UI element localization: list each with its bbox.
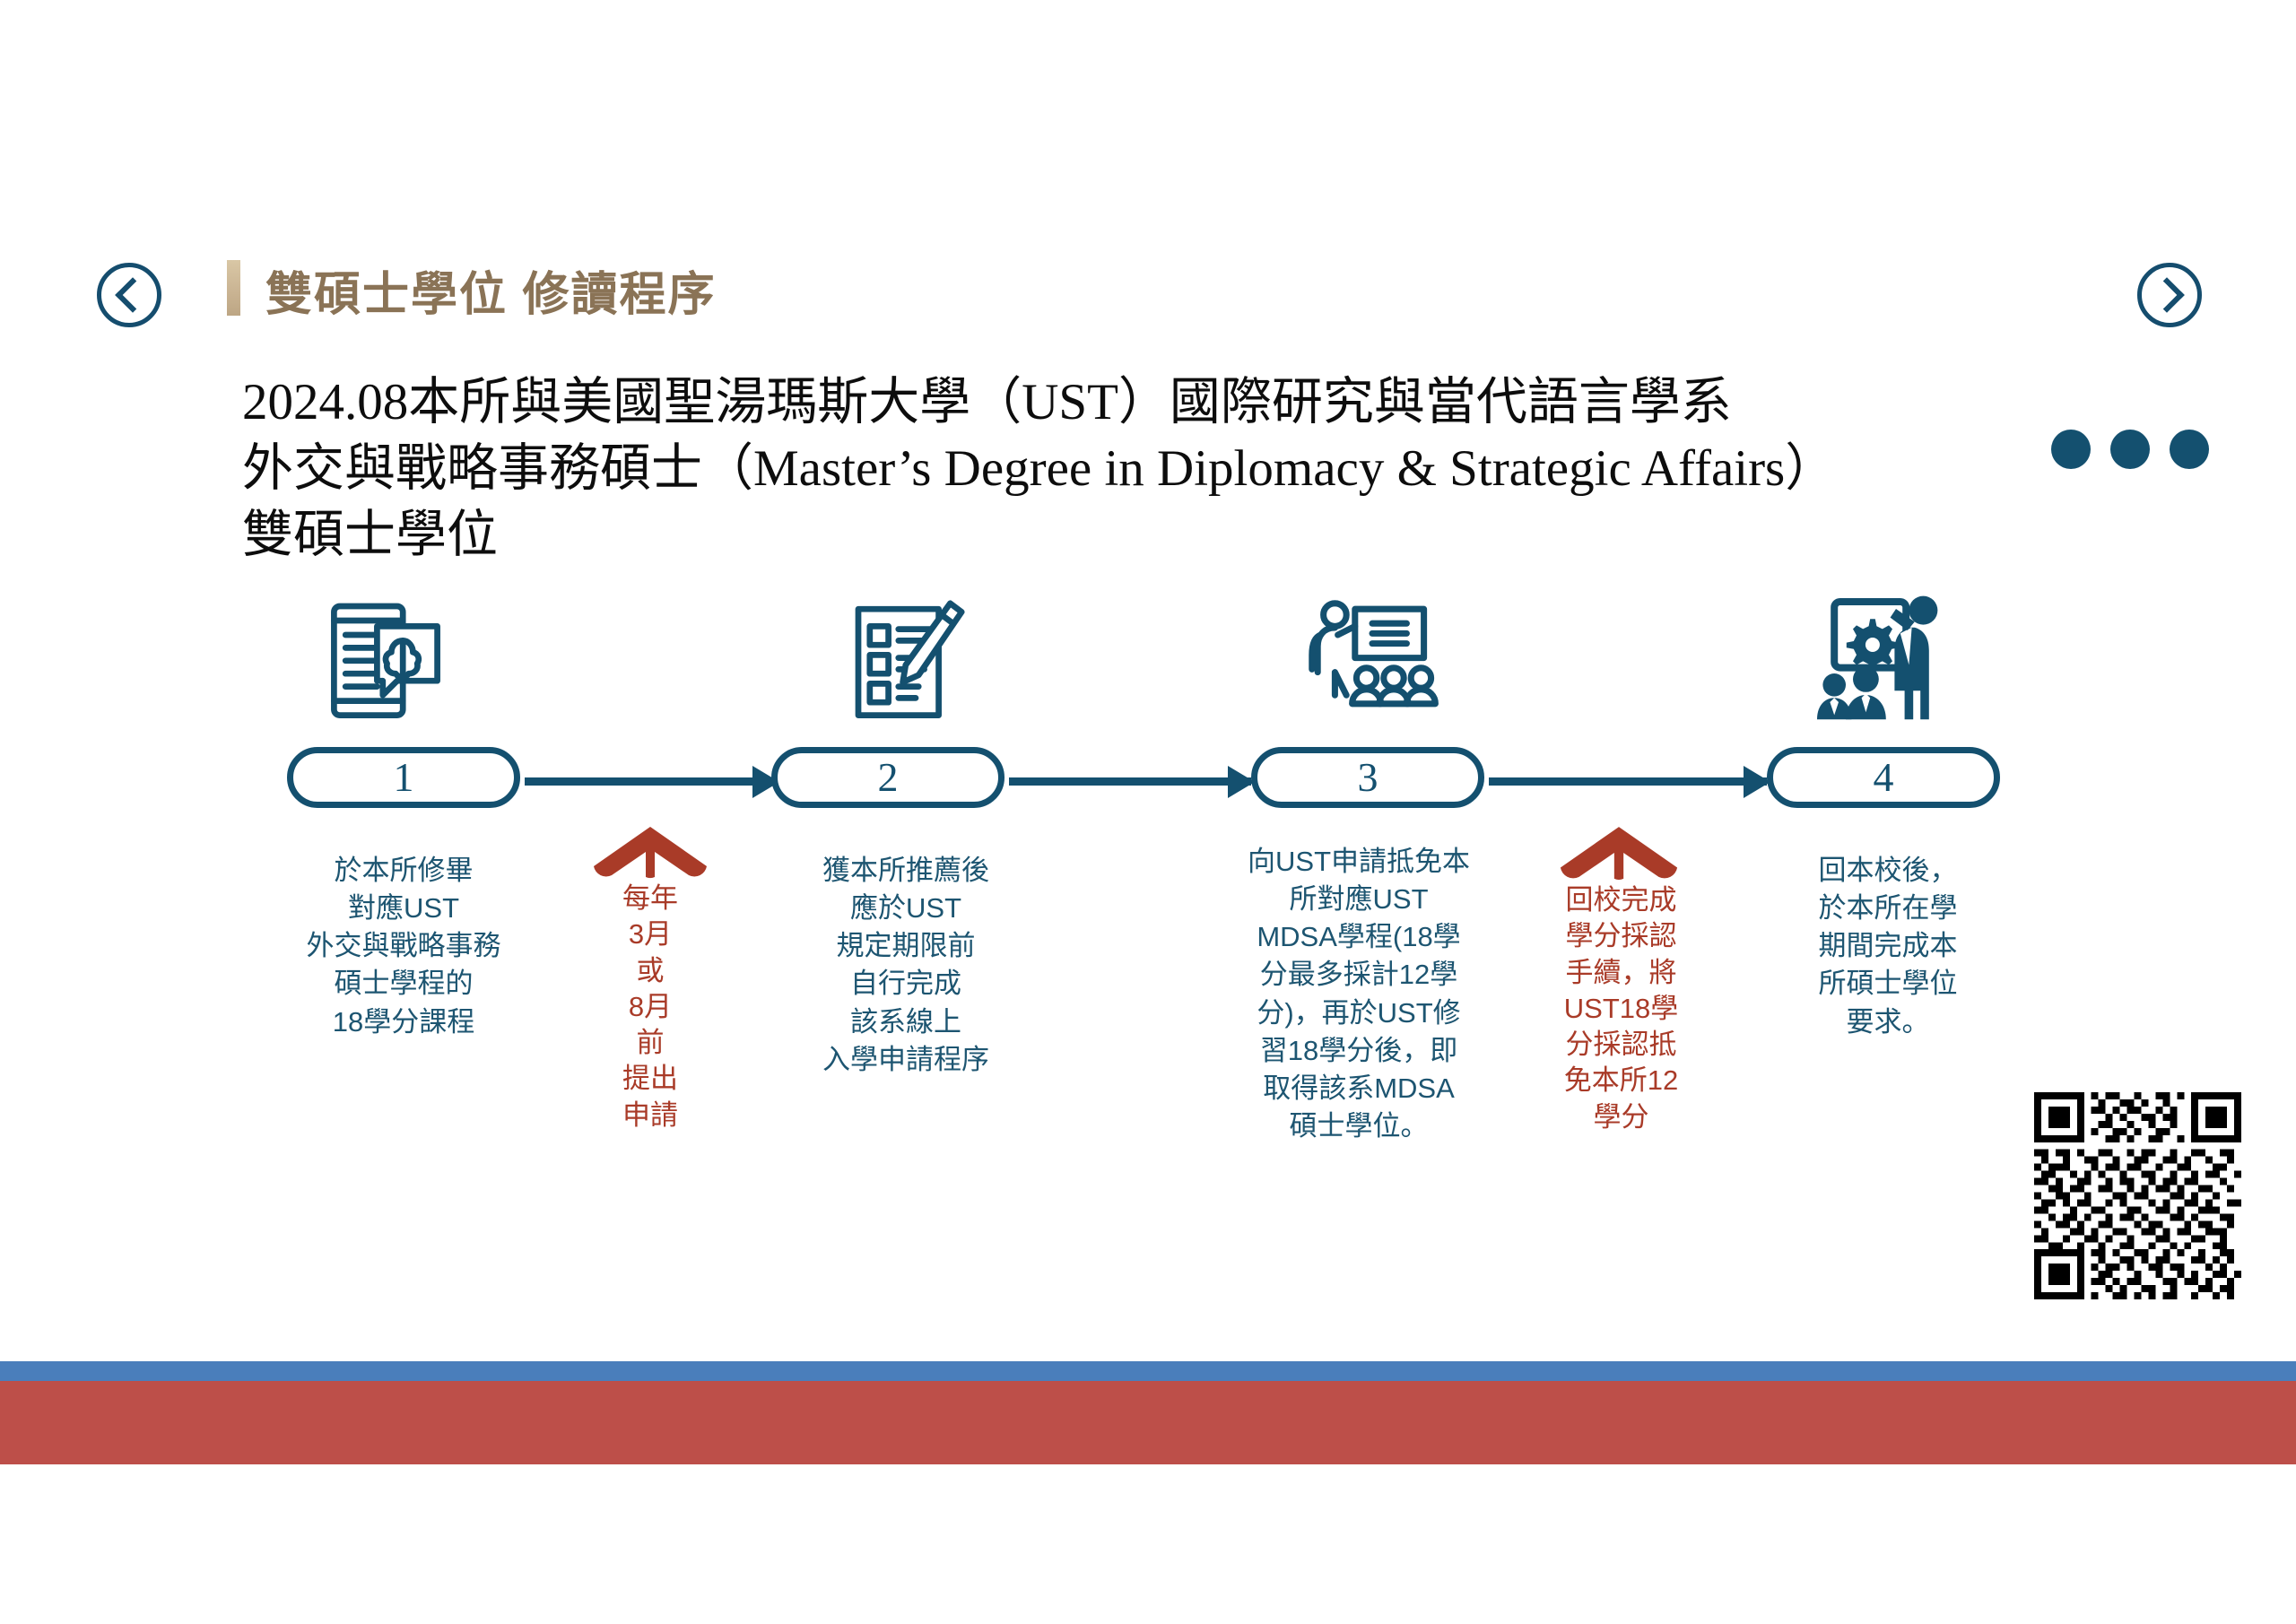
- checklist-pencil-icon: [821, 592, 982, 735]
- pagination-dots[interactable]: [2051, 430, 2209, 469]
- intro-line-2: 外交與戰略事務碩士（Master’s Degree in Diplomacy &…: [242, 436, 1973, 502]
- presenter-audience-icon: [1291, 592, 1453, 735]
- note1-line-6: 提出: [592, 1061, 709, 1097]
- step2-line-6: 入學申請程序: [744, 1041, 1067, 1079]
- step2-line-5: 該系線上: [744, 1003, 1067, 1041]
- step-number-2: 2: [878, 757, 899, 798]
- pagination-dot-3[interactable]: [2170, 430, 2209, 469]
- step3-line-5: 分)，再於UST修: [1184, 994, 1534, 1032]
- note2-line-5: 分採認抵: [1547, 1027, 1695, 1063]
- note2-line-1: 回校完成: [1547, 882, 1695, 918]
- step3-line-4: 分最多採計12學: [1184, 956, 1534, 994]
- connector-2-3: [1009, 777, 1251, 786]
- intro-paragraph: 2024.08本所與美國聖湯瑪斯大學（UST）國際研究與當代語言學系 外交與戰略…: [242, 369, 1973, 569]
- footer-blue-bar: [0, 1361, 2296, 1381]
- process-flow-diagram: 1 於本所修畢 對應UST 外交與戰略事務 碩士學程的 18學分課程 每年 3月…: [0, 574, 2296, 1309]
- step2-line-4: 自行完成: [744, 965, 1067, 1003]
- red-note-1: 每年 3月 或 8月 前 提出 申請: [592, 825, 709, 883]
- step1-line-3: 外交與戰略事務: [238, 927, 570, 965]
- note1-line-5: 前: [592, 1025, 709, 1061]
- step-description-1: 於本所修畢 對應UST 外交與戰略事務 碩士學程的 18學分課程: [238, 852, 570, 1041]
- connector-1-2: [525, 777, 776, 786]
- step-description-2: 獲本所推薦後 應於UST 規定期限前 自行完成 該系線上 入學申請程序: [744, 852, 1067, 1079]
- prev-slide-button[interactable]: [97, 263, 161, 327]
- note2-line-3: 手續，將: [1547, 955, 1695, 991]
- step4-line-4: 所碩士學位: [1740, 965, 2036, 1003]
- step3-line-2: 所對應UST: [1184, 881, 1534, 918]
- gear-presentation-icon: [1794, 587, 1955, 731]
- note1-line-3: 或: [592, 953, 709, 989]
- step4-line-2: 於本所在學: [1740, 890, 2036, 927]
- step-node-4[interactable]: 4: [1767, 747, 2000, 808]
- connector-3-4: [1489, 777, 1767, 786]
- step3-line-6: 習18學分後，即: [1184, 1032, 1534, 1070]
- step2-line-1: 獲本所推薦後: [744, 852, 1067, 890]
- step3-line-1: 向UST申請抵免本: [1184, 843, 1534, 881]
- red-up-arrow-icon: [592, 825, 709, 879]
- note1-line-2: 3月: [592, 916, 709, 952]
- chevron-left-icon: [115, 277, 151, 313]
- red-note-2: 回校完成 學分採認 手續，將 UST18學 分採認抵 免本所12 學分: [1547, 825, 1695, 885]
- note2-line-7: 學分: [1547, 1099, 1695, 1135]
- step4-line-3: 期間完成本: [1740, 927, 2036, 965]
- step-node-3[interactable]: 3: [1251, 747, 1484, 808]
- intro-line-1: 2024.08本所與美國聖湯瑪斯大學（UST）國際研究與當代語言學系: [242, 369, 1973, 436]
- step3-line-7: 取得該系MDSA: [1184, 1070, 1534, 1107]
- document-brain-icon: [305, 592, 466, 735]
- step3-line-3: MDSA學程(18學: [1184, 918, 1534, 956]
- step1-line-1: 於本所修畢: [238, 852, 570, 890]
- pagination-dot-2[interactable]: [2110, 430, 2150, 469]
- step1-line-2: 對應UST: [238, 890, 570, 927]
- intro-line-3: 雙碩士學位: [242, 502, 1973, 569]
- step2-line-3: 規定期限前: [744, 927, 1067, 965]
- title-accent-bar: [227, 260, 240, 316]
- pagination-dot-1[interactable]: [2051, 430, 2091, 469]
- step1-line-5: 18學分課程: [238, 1003, 570, 1041]
- step-description-4: 回本校後， 於本所在學 期間完成本 所碩士學位 要求。: [1740, 852, 2036, 1041]
- step4-line-5: 要求。: [1740, 1003, 2036, 1041]
- note2-line-4: UST18學: [1547, 991, 1695, 1027]
- note1-line-7: 申請: [592, 1098, 709, 1133]
- note2-line-6: 免本所12: [1547, 1063, 1695, 1099]
- step-number-4: 4: [1874, 757, 1894, 798]
- note1-line-1: 每年: [592, 881, 709, 916]
- step-number-3: 3: [1358, 757, 1378, 798]
- page-title: 雙碩士學位 修讀程序: [265, 256, 716, 324]
- step2-line-2: 應於UST: [744, 890, 1067, 927]
- step4-line-1: 回本校後，: [1740, 852, 2036, 890]
- note2-line-2: 學分採認: [1547, 918, 1695, 954]
- step1-line-4: 碩士學程的: [238, 965, 570, 1003]
- next-slide-button[interactable]: [2137, 263, 2202, 327]
- step3-line-8: 碩士學位。: [1184, 1107, 1534, 1145]
- chevron-right-icon: [2149, 277, 2185, 313]
- step-node-1[interactable]: 1: [287, 747, 520, 808]
- step-number-1: 1: [394, 757, 414, 798]
- footer-red-bar: [0, 1381, 2296, 1464]
- qr-code[interactable]: [2034, 1092, 2241, 1299]
- step-node-2[interactable]: 2: [771, 747, 1004, 808]
- slide-canvas: 雙碩士學位 修讀程序 2024.08本所與美國聖湯瑪斯大學（UST）國際研究與當…: [0, 0, 2296, 1624]
- red-up-arrow-icon: [1547, 825, 1691, 881]
- note1-line-4: 8月: [592, 989, 709, 1025]
- step-description-3: 向UST申請抵免本 所對應UST MDSA學程(18學 分最多採計12學 分)，…: [1184, 843, 1534, 1145]
